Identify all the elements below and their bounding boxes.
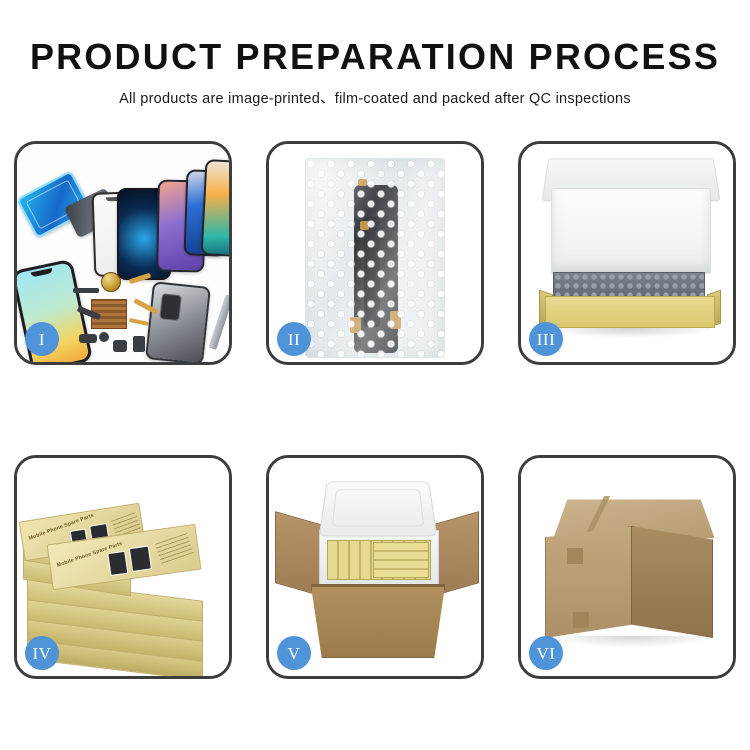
product-preparation-process-page: PRODUCT PREPARATION PROCESS All products… — [0, 0, 750, 750]
part-bit — [133, 336, 145, 352]
carton-front-panel — [311, 586, 445, 658]
box-window — [107, 551, 128, 576]
part-bit — [113, 340, 127, 352]
drop-shadow — [547, 328, 713, 338]
box-window — [129, 545, 152, 572]
plastic-gloss — [306, 159, 444, 357]
box-spec-lines — [155, 533, 194, 565]
part-bit — [79, 334, 97, 343]
page-header: PRODUCT PREPARATION PROCESS All products… — [0, 38, 750, 108]
page-subtitle: All products are image-printed、film-coat… — [0, 87, 750, 108]
tape-strip — [573, 612, 589, 628]
drop-shadow — [549, 636, 715, 648]
step-badge-3: III — [529, 322, 563, 356]
phone-back-housing — [145, 281, 211, 362]
process-step-card-6[interactable]: VI — [518, 455, 736, 679]
step-badge-6: VI — [529, 636, 563, 670]
yellow-boxes-row — [373, 542, 429, 578]
phone-teal-gradient — [201, 159, 229, 257]
page-title: PRODUCT PREPARATION PROCESS — [0, 38, 750, 76]
sealed-shipping-carton — [539, 486, 721, 646]
process-step-card-4[interactable]: Mobile Phone Spare Parts Mobile Phone Sp… — [14, 455, 232, 679]
carton-right-face — [631, 526, 713, 638]
step-badge-1: I — [25, 322, 59, 356]
styrofoam-lid — [319, 481, 438, 536]
white-foam-sheet — [551, 188, 711, 274]
process-step-card-1[interactable]: I — [14, 141, 232, 365]
step-badge-4: IV — [25, 636, 59, 670]
part-bit — [73, 288, 99, 293]
tweezers-tool — [209, 294, 229, 350]
flex-cable — [129, 318, 149, 326]
part-bit — [99, 332, 109, 342]
process-step-card-3[interactable]: III — [518, 141, 736, 365]
box-front-yellow — [545, 296, 715, 328]
step-badge-5: V — [277, 636, 311, 670]
tape-strip — [567, 548, 583, 564]
kraft-box-stack: Mobile Phone Spare Parts Mobile Phone Sp… — [21, 478, 227, 664]
process-step-grid: I II — [14, 141, 736, 673]
process-step-card-5[interactable]: V — [266, 455, 484, 679]
process-step-card-2[interactable]: II — [266, 141, 484, 365]
speaker-module-icon — [101, 272, 121, 292]
bubble-wrap-bag — [305, 158, 445, 358]
carton-left-face — [545, 526, 633, 638]
step-badge-2: II — [277, 322, 311, 356]
